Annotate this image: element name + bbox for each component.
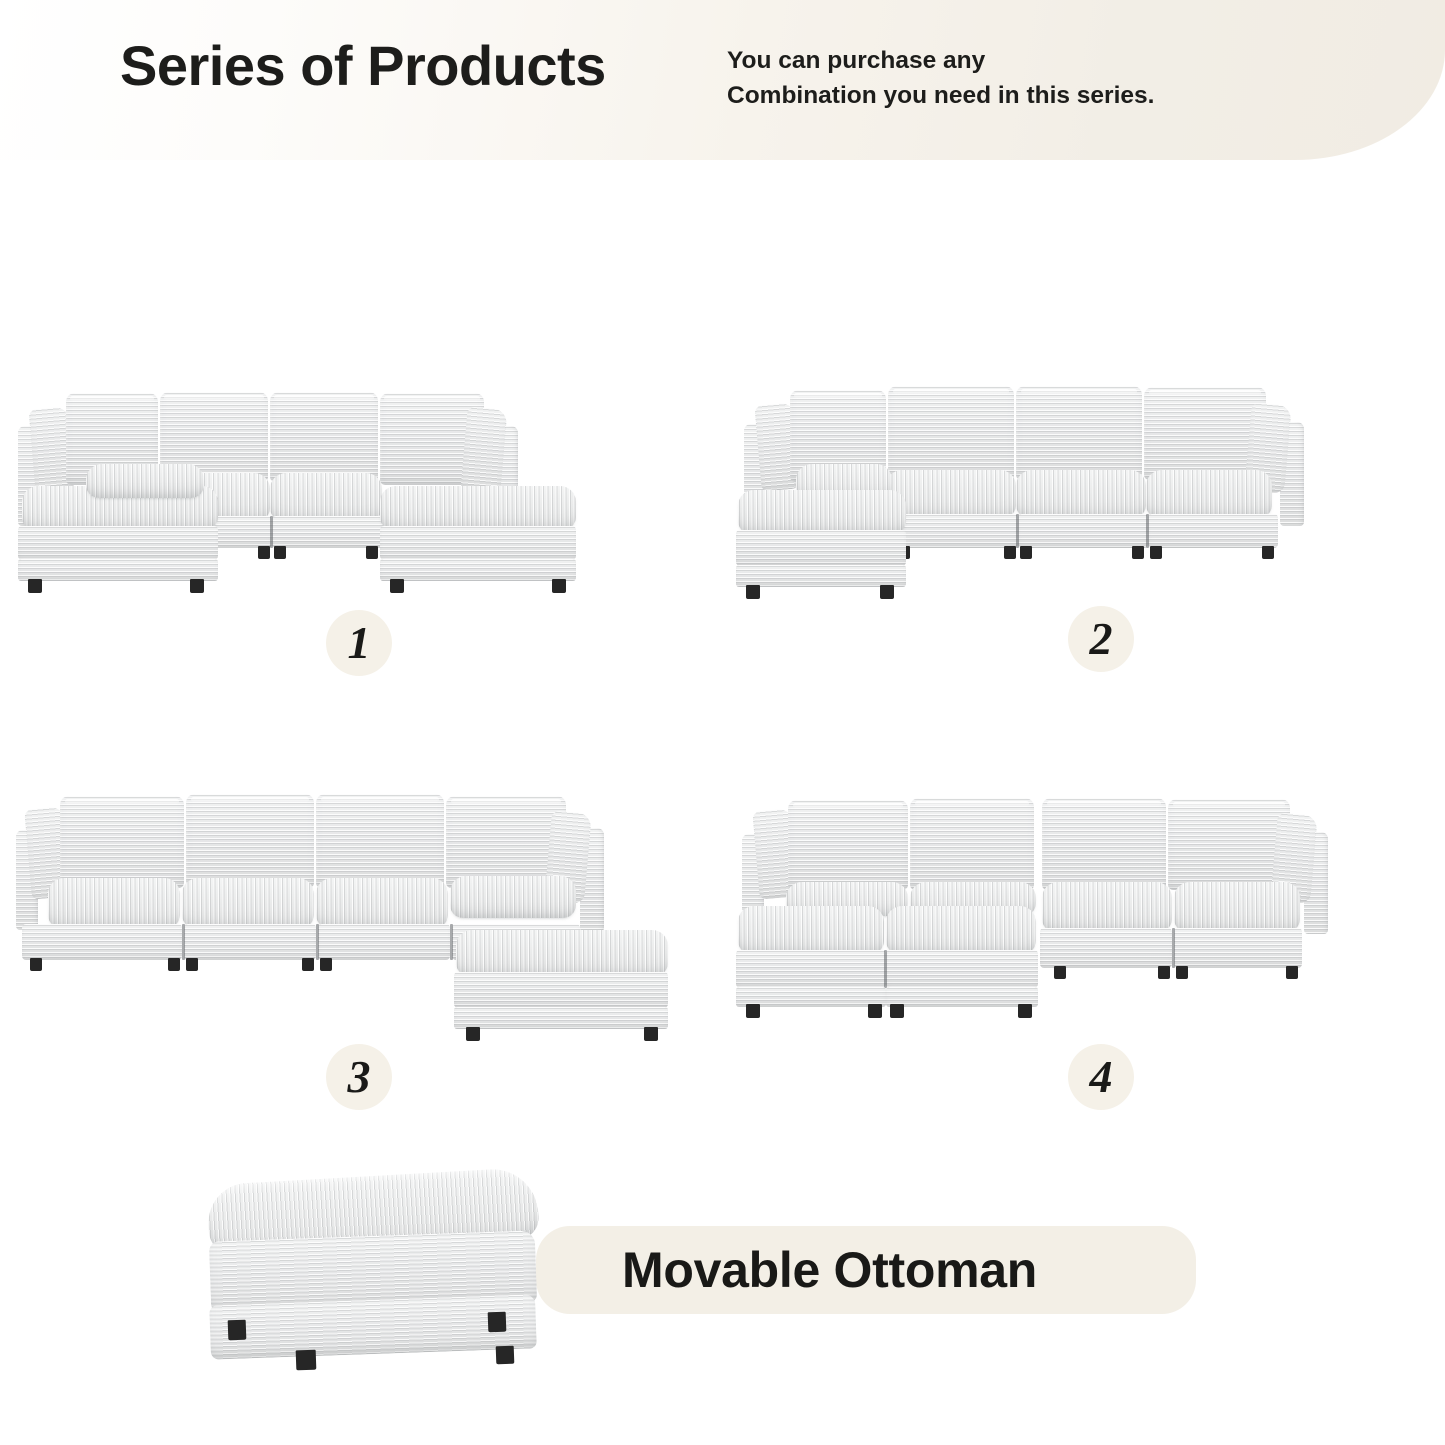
configuration-4[interactable]: 4 xyxy=(728,782,1428,1008)
ottoman-plinth xyxy=(18,559,218,581)
sofa-illustration-2 xyxy=(728,372,1428,600)
module-seam xyxy=(884,950,887,988)
module-base xyxy=(318,924,450,960)
seat-cushion xyxy=(1174,882,1300,932)
ottoman-leg xyxy=(746,1004,760,1018)
configuration-badge-3: 3 xyxy=(326,1044,392,1110)
ottoman-leg xyxy=(644,1027,658,1041)
back-cushion xyxy=(910,798,1034,890)
sofa-leg xyxy=(1286,966,1298,979)
right-arm-pillow xyxy=(460,406,507,493)
seat-cushion xyxy=(316,878,448,928)
sofa-leg xyxy=(186,958,198,971)
header-subtitle: You can purchase any Combination you nee… xyxy=(727,44,1154,114)
ottoman-base xyxy=(736,950,886,988)
ottoman-leg xyxy=(552,579,566,593)
module-seam xyxy=(270,516,273,548)
corner-module-seat xyxy=(450,876,576,918)
module-seam xyxy=(1016,514,1019,548)
header-content: Series of Products You can purchase any … xyxy=(0,0,1445,160)
module-seam xyxy=(1146,514,1149,548)
subtitle-line-1: You can purchase any xyxy=(727,44,1154,79)
badge-number: 4 xyxy=(1090,1054,1113,1100)
ottoman-plinth xyxy=(886,987,1038,1007)
configuration-badge-2: 2 xyxy=(1068,606,1134,672)
seat-cushion xyxy=(48,878,180,928)
seat-cushion xyxy=(270,473,382,521)
sofa-illustration-3 xyxy=(8,782,708,1014)
ottoman-leg xyxy=(868,1004,882,1018)
sofa-illustration-4 xyxy=(728,782,1428,1008)
sofa-leg xyxy=(1176,966,1188,979)
configuration-2[interactable]: 2 xyxy=(728,372,1428,600)
ottoman-leg xyxy=(190,579,204,593)
back-cushion xyxy=(1016,386,1142,480)
ottoman-base xyxy=(380,526,576,560)
ottoman-leg xyxy=(496,1346,515,1365)
ottoman-leg xyxy=(296,1350,317,1371)
back-cushion xyxy=(888,386,1014,480)
sofa-leg xyxy=(302,958,314,971)
seat-cushion xyxy=(182,878,314,928)
movable-ottoman-illustration[interactable] xyxy=(196,1168,576,1388)
back-cushion xyxy=(60,796,184,888)
back-cushion xyxy=(316,794,444,888)
sofa-leg xyxy=(1262,546,1274,559)
back-cushion xyxy=(1042,798,1166,890)
module-base xyxy=(22,924,182,960)
module-base xyxy=(272,516,384,548)
sofa-leg xyxy=(1054,966,1066,979)
ottoman-top-cushion xyxy=(886,906,1036,954)
sofa-leg xyxy=(1132,546,1144,559)
module-base xyxy=(1040,928,1172,968)
ottoman-plinth xyxy=(454,1007,668,1029)
subtitle-line-2: Combination you need in this series. xyxy=(727,79,1154,114)
ottoman-plinth xyxy=(736,565,906,587)
product-series-infographic: Series of Products You can purchase any … xyxy=(0,0,1445,1445)
ottoman-leg xyxy=(890,1004,904,1018)
back-cushion xyxy=(186,794,314,888)
sofa-leg xyxy=(168,958,180,971)
ottoman-leg xyxy=(746,585,760,599)
sofa-leg xyxy=(320,958,332,971)
module-seam xyxy=(1172,928,1175,968)
back-cushion xyxy=(788,800,908,890)
ottoman-leg xyxy=(28,579,42,593)
ottoman-leg xyxy=(466,1027,480,1041)
sofa-leg xyxy=(274,546,286,559)
ottoman-leg xyxy=(228,1320,247,1341)
ottoman-leg xyxy=(880,585,894,599)
module-base xyxy=(184,924,316,960)
module-base xyxy=(1148,514,1278,548)
configuration-3[interactable]: 3 xyxy=(8,782,708,1014)
ottoman-top-cushion xyxy=(380,486,576,530)
ottoman-leg xyxy=(488,1312,507,1333)
left-module-seat xyxy=(86,464,204,498)
movable-ottoman-label-pill: Movable Ottoman xyxy=(536,1226,1196,1314)
module-seam xyxy=(182,924,185,960)
ottoman-top-cushion xyxy=(738,906,884,954)
configuration-badge-1: 1 xyxy=(326,610,392,676)
badge-number: 2 xyxy=(1090,616,1113,662)
ottoman-top-cushion xyxy=(456,930,668,976)
back-cushion xyxy=(270,392,378,482)
page-title: Series of Products xyxy=(120,33,606,98)
ottoman-base xyxy=(886,950,1038,988)
movable-ottoman-label: Movable Ottoman xyxy=(536,1241,1037,1299)
badge-number: 1 xyxy=(348,620,371,666)
configuration-1[interactable]: 1 xyxy=(8,378,708,598)
ottoman-plinth xyxy=(380,559,576,581)
seat-cushion xyxy=(1146,470,1272,518)
module-base xyxy=(1018,514,1148,548)
sofa-leg xyxy=(258,546,270,559)
badge-number: 3 xyxy=(348,1054,371,1100)
configuration-badge-4: 4 xyxy=(1068,1044,1134,1110)
sofa-leg xyxy=(1004,546,1016,559)
sofa-leg xyxy=(366,546,378,559)
seat-cushion xyxy=(1016,470,1146,518)
ottoman-base xyxy=(736,530,906,566)
ottoman-leg xyxy=(390,579,404,593)
ottoman-leg xyxy=(1018,1004,1032,1018)
header-band: Series of Products You can purchase any … xyxy=(0,0,1445,160)
module-base xyxy=(1174,928,1302,968)
seat-cushion xyxy=(1042,882,1172,932)
ottoman-top-cushion xyxy=(738,490,906,534)
sofa-illustration-1 xyxy=(8,378,708,598)
module-seam xyxy=(450,924,453,960)
sofa-leg xyxy=(1020,546,1032,559)
sofa-leg xyxy=(30,958,42,971)
sofa-leg xyxy=(1150,546,1162,559)
ottoman-base xyxy=(18,526,218,560)
module-seam xyxy=(316,924,319,960)
ottoman-base xyxy=(454,972,668,1008)
sofa-leg xyxy=(1158,966,1170,979)
